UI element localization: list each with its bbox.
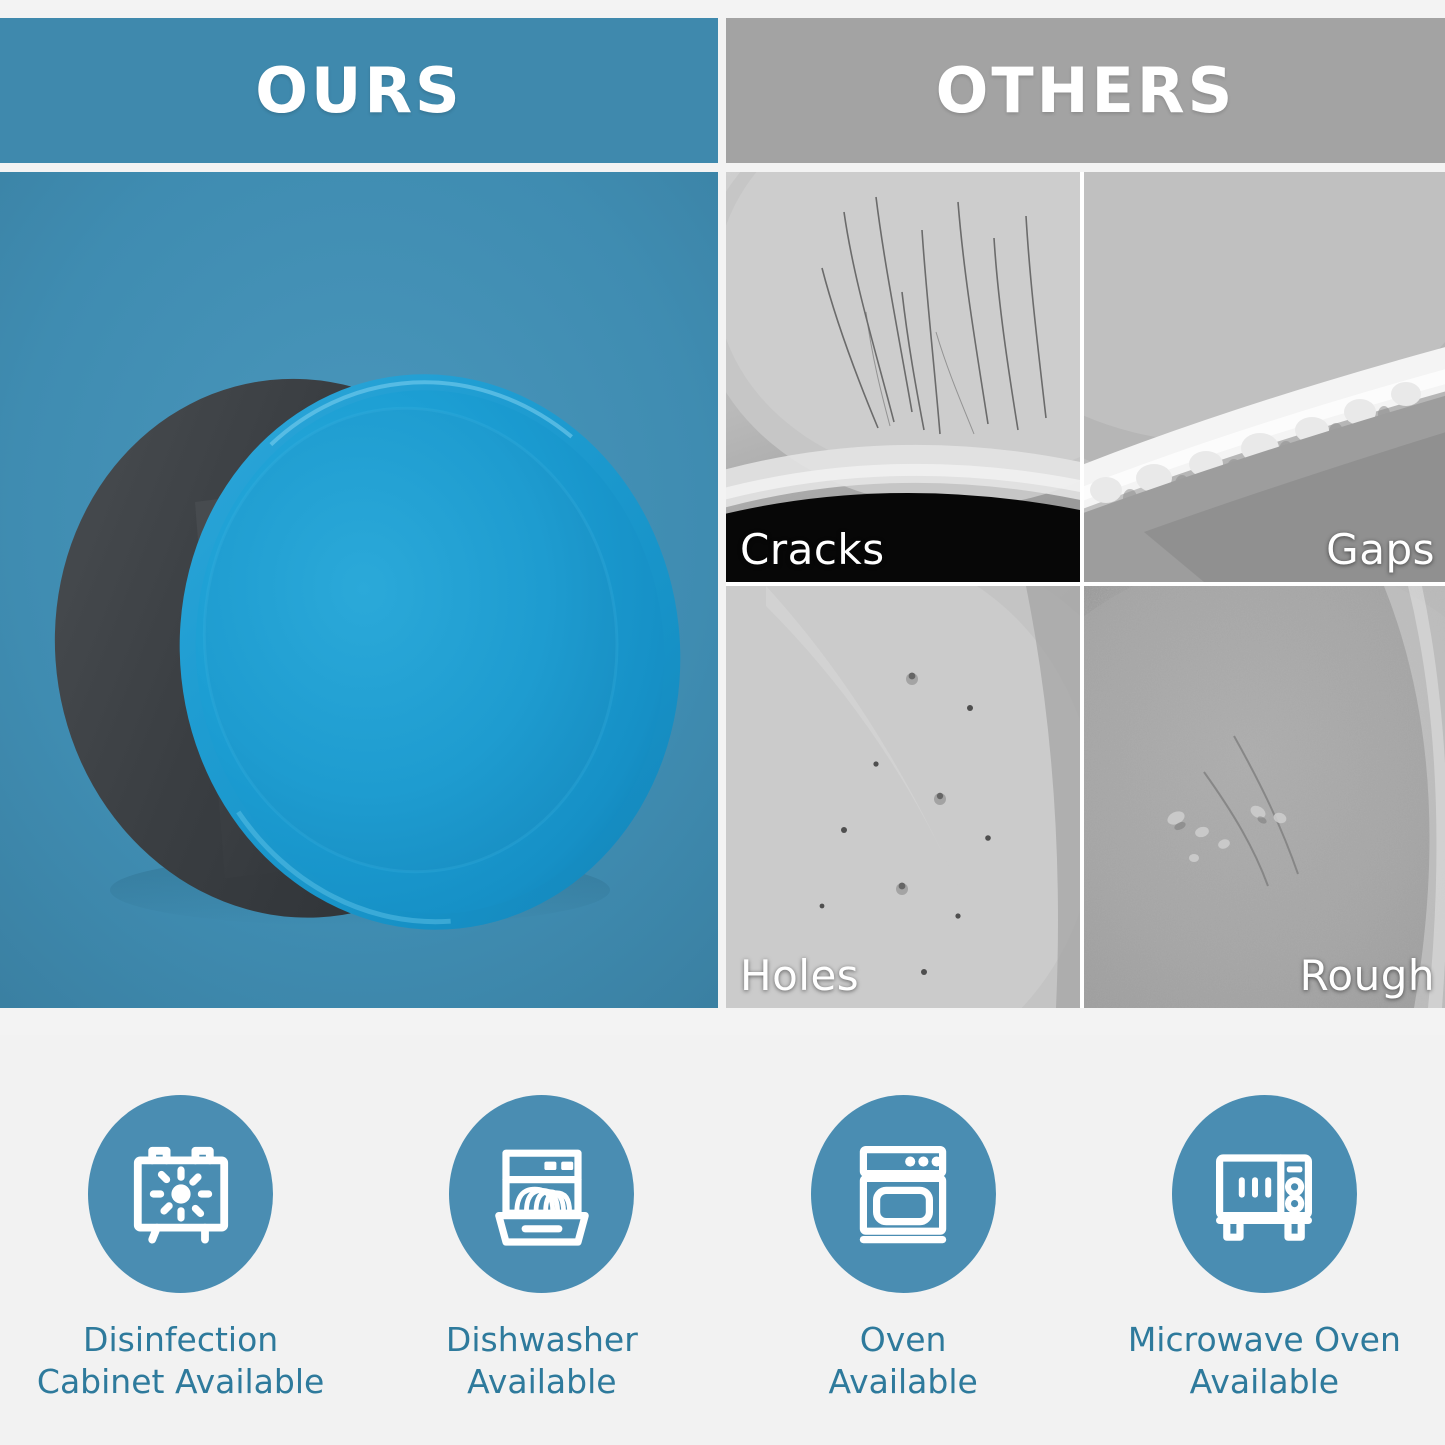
feature-dishwasher[interactable]: Dishwasher Available (361, 1035, 722, 1445)
defect-tile-cracks: Cracks (726, 172, 1080, 582)
feature-microwave-oven[interactable]: Microwave Oven Available (1084, 1035, 1445, 1445)
quadrant-divider-vertical (1080, 172, 1084, 1008)
defect-label-rough: Rough (1300, 951, 1435, 1000)
microwave-oven-icon (1204, 1134, 1324, 1254)
holes-photo (726, 586, 1080, 1008)
feature-label: Disinfection Cabinet Available (37, 1319, 324, 1403)
feature-disinfection-cabinet[interactable]: Disinfection Cabinet Available (0, 1035, 361, 1445)
header-ours: OURS (0, 18, 718, 163)
feature-strip: Disinfection Cabinet Available (0, 1035, 1445, 1445)
gaps-photo (1084, 172, 1445, 582)
defect-label-gaps: Gaps (1326, 525, 1435, 574)
defect-tile-gaps: Gaps (1084, 172, 1445, 582)
defect-tile-holes: Holes (726, 586, 1080, 1008)
product-photo-panel (0, 172, 718, 1008)
disinfection-cabinet-icon (121, 1134, 241, 1254)
header-ours-label: OURS (255, 54, 462, 127)
quadrant-divider-horizontal (726, 582, 1445, 586)
feature-icon-circle (1172, 1095, 1357, 1293)
feature-icon-circle (449, 1095, 634, 1293)
feature-label: Dishwasher Available (446, 1319, 638, 1403)
product-image (0, 172, 718, 1008)
defect-label-holes: Holes (740, 951, 859, 1000)
defect-tile-rough: Rough (1084, 586, 1445, 1008)
defects-panel: Cracks (726, 172, 1445, 1008)
feature-label: Microwave Oven Available (1128, 1319, 1401, 1403)
cracks-photo (726, 172, 1080, 582)
cake-pan-illustration (0, 172, 718, 1008)
comparison-infographic: OURS OTHERS (0, 0, 1445, 1445)
feature-oven[interactable]: Oven Available (723, 1035, 1084, 1445)
feature-label: Oven Available (828, 1319, 977, 1403)
header-others-label: OTHERS (936, 54, 1236, 127)
dishwasher-icon (482, 1134, 602, 1254)
rough-photo (1084, 586, 1445, 1008)
defect-label-cracks: Cracks (740, 525, 885, 574)
oven-icon (843, 1134, 963, 1254)
feature-icon-circle (88, 1095, 273, 1293)
feature-icon-circle (811, 1095, 996, 1293)
header-others: OTHERS (726, 18, 1445, 163)
